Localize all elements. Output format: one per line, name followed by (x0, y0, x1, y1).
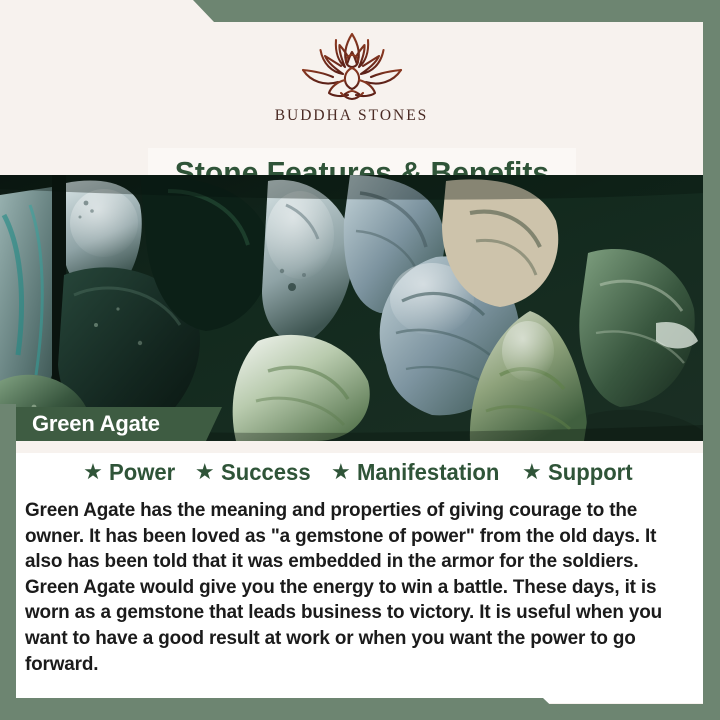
stone-description: Green Agate has the meaning and properti… (25, 498, 684, 677)
stone-name-banner: Green Agate (0, 407, 222, 441)
content-panel: ★ Power ★ Success ★ Manifestation ★ Supp… (16, 441, 703, 703)
benefit-item-power: ★ Power (83, 459, 178, 486)
stone-photo (0, 175, 703, 441)
brand-logo: BUDDHA STONES (0, 30, 703, 125)
star-icon: ★ (83, 461, 103, 483)
header-section: BUDDHA STONES Stone Features & Benefits (0, 22, 703, 175)
benefit-item-success: ★ Success (195, 459, 314, 486)
benefit-item-support: ★ Support (522, 459, 636, 486)
lotus-meditation-icon (293, 30, 411, 104)
content-top-strip (16, 441, 703, 453)
right-green-rail (703, 0, 720, 720)
star-icon: ★ (331, 461, 351, 483)
stone-info-card: BUDDHA STONES Stone Features & Benefits (0, 0, 720, 720)
brand-wordmark: BUDDHA STONES (275, 107, 429, 125)
benefit-item-manifestation: ★ Manifestation (331, 459, 505, 486)
star-icon: ★ (195, 461, 215, 483)
stone-name: Green Agate (32, 411, 160, 437)
benefit-label: Support (548, 459, 633, 486)
benefit-label: Success (221, 459, 311, 486)
left-green-rail (0, 404, 16, 703)
stone-photo-illustration (0, 175, 703, 441)
benefit-label: Power (109, 459, 175, 486)
benefit-label: Manifestation (357, 459, 499, 486)
benefits-row: ★ Power ★ Success ★ Manifestation ★ Supp… (16, 459, 703, 486)
star-icon: ★ (522, 461, 542, 483)
